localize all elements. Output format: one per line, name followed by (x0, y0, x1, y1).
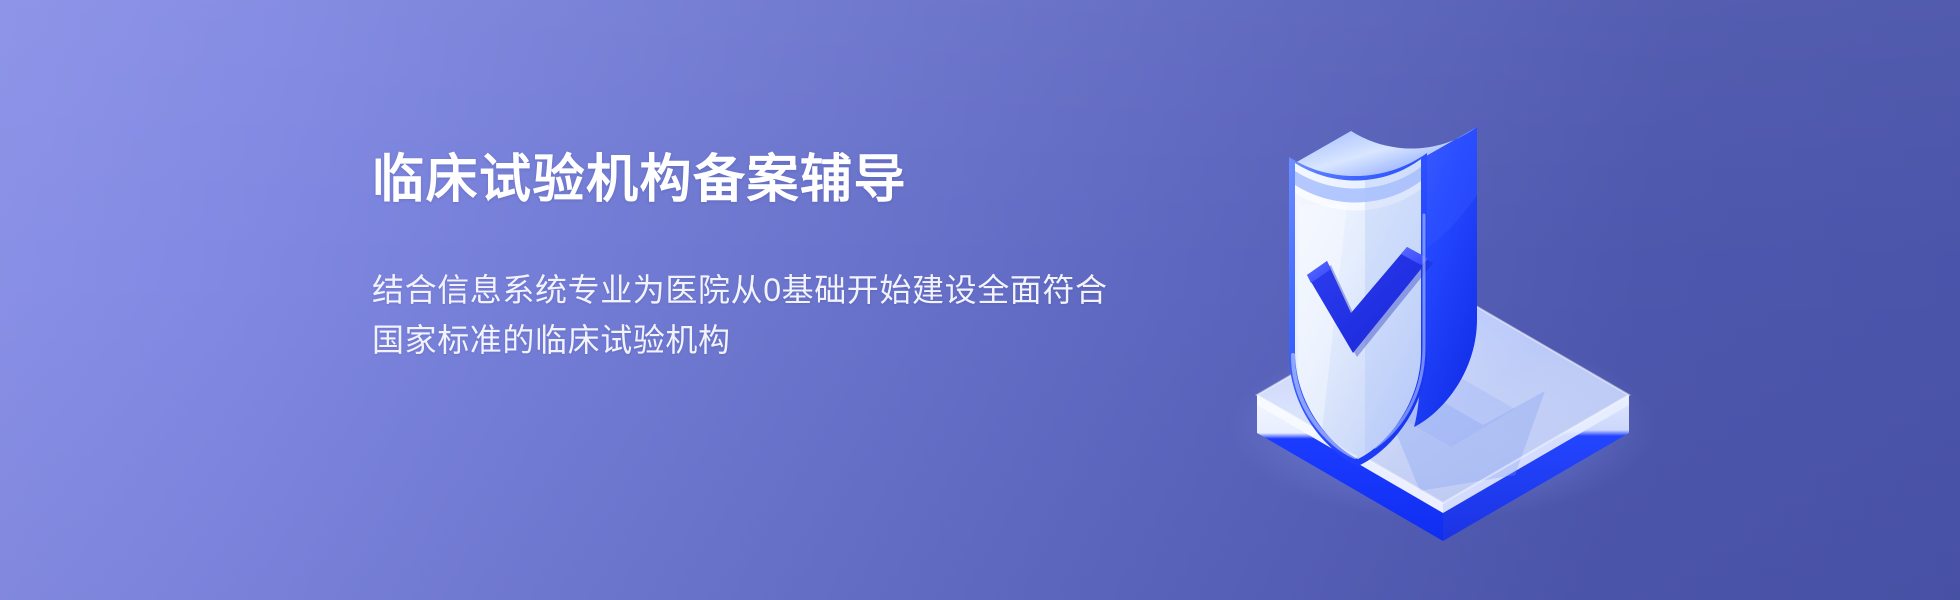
hero-banner: 临床试验机构备案辅导 结合信息系统专业为医院从0基础开始建设全面符合 国家标准的… (0, 0, 1960, 600)
shield-check-3d-illustration (1215, 55, 1675, 555)
hero-subtitle-line-2: 国家标准的临床试验机构 (372, 315, 1192, 365)
hero-subtitle: 结合信息系统专业为医院从0基础开始建设全面符合 国家标准的临床试验机构 (372, 265, 1192, 365)
hero-subtitle-line-1: 结合信息系统专业为医院从0基础开始建设全面符合 (372, 265, 1192, 315)
page-title: 临床试验机构备案辅导 (372, 150, 1192, 210)
hero-copy-block: 临床试验机构备案辅导 结合信息系统专业为医院从0基础开始建设全面符合 国家标准的… (372, 150, 1192, 365)
